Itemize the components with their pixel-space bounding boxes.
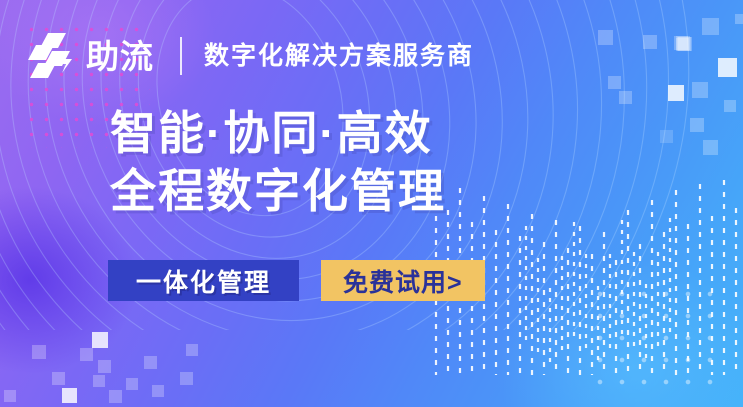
decor-square bbox=[109, 390, 122, 403]
decor-square bbox=[608, 76, 621, 89]
headline-line-1: 智能·协同·高效 bbox=[110, 104, 446, 162]
decor-blob-bottom-right bbox=[443, 217, 743, 407]
decor-square bbox=[619, 91, 632, 104]
header-divider bbox=[180, 37, 182, 75]
decor-square bbox=[92, 332, 108, 348]
decor-square bbox=[126, 378, 138, 390]
decor-square bbox=[32, 345, 46, 359]
decor-square bbox=[692, 82, 708, 98]
decor-square bbox=[674, 36, 688, 50]
promo-banner: 助流 数字化解决方案服务商 智能·协同·高效 全程数字化管理 一体化管理 免费试… bbox=[0, 0, 743, 407]
decor-square bbox=[4, 390, 16, 402]
decor-square bbox=[668, 85, 684, 101]
decor-square bbox=[80, 348, 93, 361]
integrated-management-button[interactable]: 一体化管理 bbox=[108, 260, 299, 301]
decor-square bbox=[678, 37, 692, 51]
decor-square bbox=[660, 130, 673, 143]
cta-row: 一体化管理 免费试用> bbox=[108, 260, 485, 301]
headline-line-2: 全程数字化管理 bbox=[110, 162, 446, 220]
decor-square bbox=[152, 385, 164, 397]
decor-square bbox=[186, 344, 198, 356]
decor-square bbox=[677, 37, 691, 51]
banner-header: 助流 数字化解决方案服务商 bbox=[26, 28, 474, 84]
free-trial-button[interactable]: 免费试用> bbox=[321, 260, 485, 301]
decor-square bbox=[180, 372, 193, 385]
brand-name: 助流 bbox=[86, 40, 154, 73]
brand-tagline: 数字化解决方案服务商 bbox=[204, 44, 474, 69]
decor-square bbox=[93, 375, 105, 387]
lightning-bolt-logo-icon bbox=[26, 31, 76, 81]
decor-square bbox=[676, 36, 690, 50]
decor-square bbox=[598, 30, 613, 45]
decor-square bbox=[703, 140, 718, 155]
decor-square bbox=[676, 38, 689, 51]
decor-square bbox=[52, 372, 65, 385]
decor-square bbox=[718, 58, 737, 77]
headline-block: 智能·协同·高效 全程数字化管理 bbox=[110, 104, 446, 220]
decor-square bbox=[702, 18, 719, 35]
decor-square bbox=[735, 14, 743, 24]
decor-square bbox=[643, 35, 657, 49]
decor-square bbox=[144, 356, 157, 369]
decor-square bbox=[690, 118, 704, 132]
decor-square bbox=[724, 100, 736, 112]
decor-square bbox=[62, 388, 77, 403]
light-dot-grid-decoration bbox=[589, 283, 719, 389]
decor-square bbox=[98, 360, 111, 373]
